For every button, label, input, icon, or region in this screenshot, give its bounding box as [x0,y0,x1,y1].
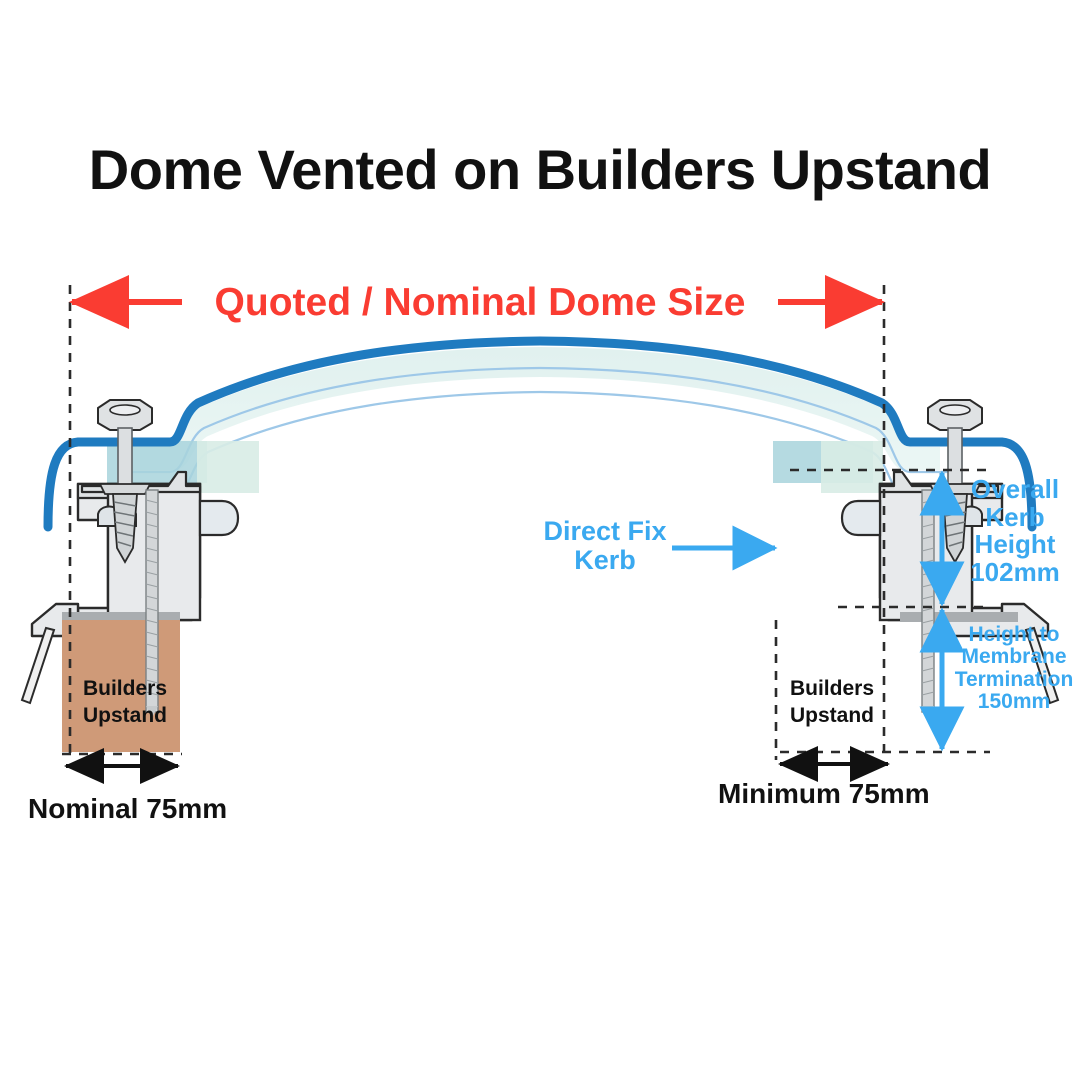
nominal-width-label: Nominal 75mm [28,794,227,824]
builders-upstand-label-left: Builders Upstand [55,675,195,730]
membrane-termination-height-label: Height to Membrane Termination 150mm [950,624,1078,713]
screw-right-long-rod [922,490,934,712]
builders-upstand-label-right: Builders Upstand [762,675,902,730]
dome-vent-inner-right [821,441,883,493]
diagram-canvas: Dome Vented on Builders Upstand Quoted /… [0,0,1080,1080]
screw-left-shank [118,428,132,490]
page-title: Dome Vented on Builders Upstand [0,140,1080,199]
screw-right-head-top [940,405,970,415]
membrane-strip-left [22,628,54,703]
dome-vent-inner-left [197,441,259,493]
kerb-right-base-plate [900,612,1018,622]
direct-fix-kerb-callout-label: Direct Fix Kerb [520,517,690,574]
kerb-right-side-boss [842,501,880,535]
overall-kerb-height-label: Overall Kerb Height 102mm [955,476,1075,586]
kerb-left-side-boss [200,501,238,535]
screw-left-washer [100,484,150,494]
screw-left-head-top [110,405,140,415]
minimum-width-label: Minimum 75mm [718,779,930,809]
dome-size-dimension-label: Quoted / Nominal Dome Size [180,282,780,323]
